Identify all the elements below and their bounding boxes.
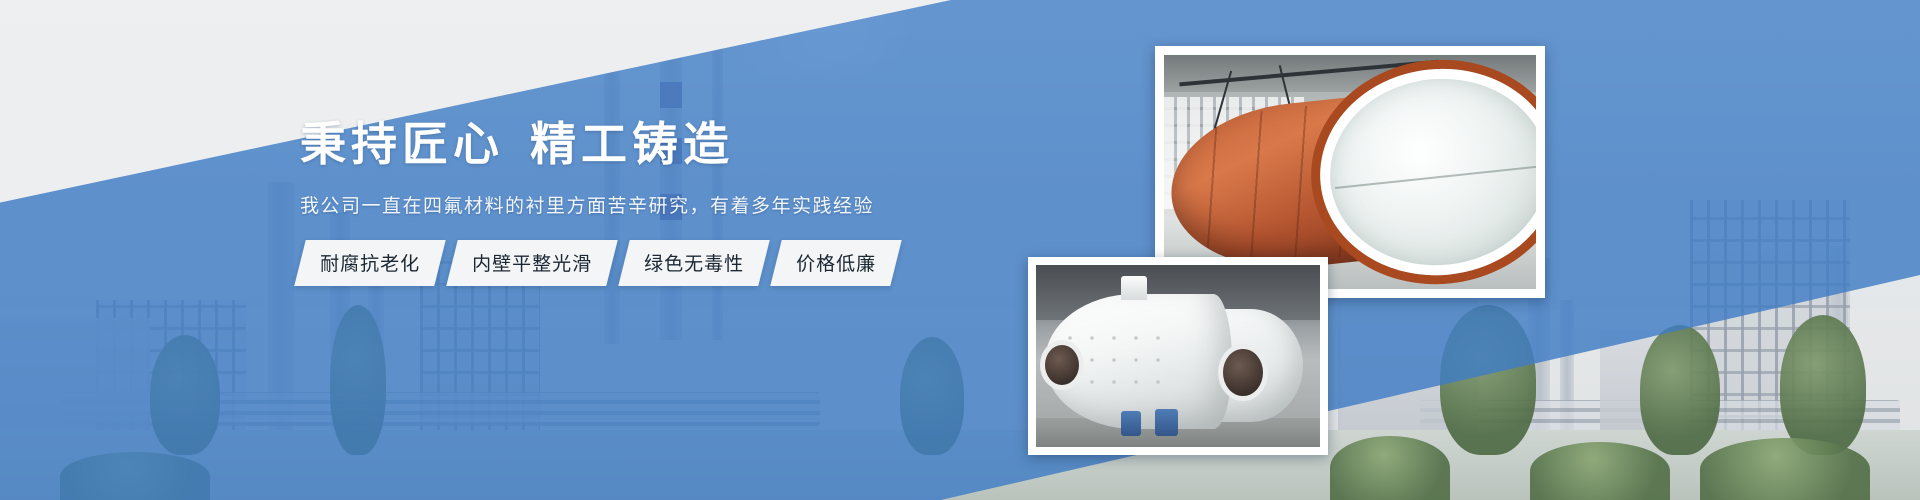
feature-tag-label: 耐腐抗老化 [320, 249, 420, 276]
white-vessel-photo-inner [1036, 265, 1320, 447]
feature-tag-corrosion-resistant[interactable]: 耐腐抗老化 [294, 240, 445, 286]
white-vessel-photo[interactable] [1028, 257, 1328, 455]
vessel-valve [1121, 411, 1141, 436]
feature-tag-non-toxic[interactable]: 绿色无毒性 [618, 240, 769, 286]
hero-copy-block: 秉持匠心精工铸造 我公司一直在四氟材料的衬里方面苦辛研究，有着多年实践经验 耐腐… [300, 118, 860, 286]
page-subtitle: 我公司一直在四氟材料的衬里方面苦辛研究，有着多年实践经验 [300, 191, 860, 218]
vessel-manway-left [1045, 345, 1079, 385]
title-part-1: 秉持匠心 [300, 118, 504, 170]
feature-tag-label: 绿色无毒性 [644, 249, 744, 276]
feature-tag-label: 内壁平整光滑 [472, 249, 592, 276]
feature-tag-list: 耐腐抗老化 内壁平整光滑 绿色无毒性 价格低廉 [300, 240, 860, 286]
vessel-valve [1155, 409, 1178, 436]
title-part-2: 精工铸造 [530, 118, 734, 170]
feature-tag-low-price[interactable]: 价格低廉 [770, 240, 901, 286]
vessel-manway-right [1223, 349, 1263, 396]
page-title: 秉持匠心精工铸造 [300, 118, 860, 171]
lined-tank-photo-inner [1164, 55, 1536, 289]
hero-banner: 秉持匠心精工铸造 我公司一直在四氟材料的衬里方面苦辛研究，有着多年实践经验 耐腐… [0, 0, 1920, 500]
vessel-nozzle [1121, 276, 1147, 300]
feature-tag-smooth-wall[interactable]: 内壁平整光滑 [446, 240, 617, 286]
feature-tag-label: 价格低廉 [796, 249, 876, 276]
